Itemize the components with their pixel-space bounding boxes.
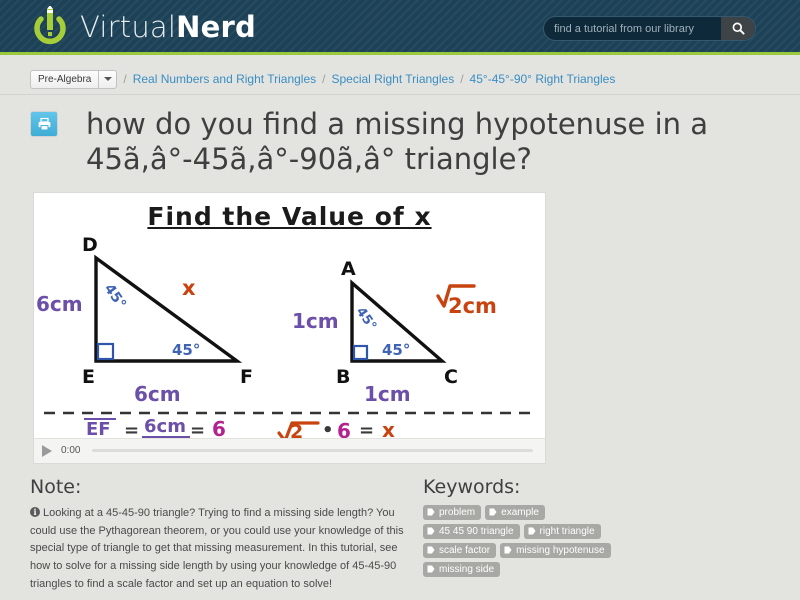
keyword-tag[interactable]: 45 45 90 triangle (423, 524, 520, 539)
note-heading: Note: (30, 476, 405, 498)
info-icon: i (30, 507, 40, 517)
note-text: Looking at a 45-45-90 triangle? Trying t… (30, 507, 404, 590)
right-hypotenuse-label: 2cm (448, 294, 497, 318)
chevron-down-icon[interactable] (98, 70, 117, 89)
keyword-tag[interactable]: right triangle (524, 524, 601, 539)
breadcrumb: Pre-Algebra / Real Numbers and Right Tri… (0, 64, 800, 95)
search-input[interactable] (544, 23, 721, 35)
video-player[interactable]: Find the Value of x D E F 6cm 6cm x 45° … (33, 192, 546, 464)
keyword-tag-label: right triangle (540, 526, 595, 537)
label-A: A (341, 258, 356, 280)
print-button[interactable] (30, 111, 58, 137)
equation-right-equals: = (359, 420, 374, 438)
equation-right-operator: • (322, 420, 334, 438)
right-angle-bottom: 45° (382, 341, 410, 359)
power-pencil-logo-icon (30, 6, 70, 48)
search-box (543, 16, 756, 41)
breadcrumb-item-0[interactable]: Real Numbers and Right Triangles (133, 72, 316, 86)
tag-icon (427, 565, 435, 573)
right-leg-vertical-label: 1cm (292, 309, 339, 333)
keyword-tag-label: example (501, 507, 539, 518)
equation-right-factor: 6 (337, 419, 351, 438)
tag-icon (427, 546, 435, 554)
play-icon[interactable] (42, 445, 52, 457)
breadcrumb-item-2[interactable]: 45°-45°-90° Right Triangles (470, 72, 616, 86)
left-hypotenuse-label: x (182, 276, 196, 300)
bottom-section: Note: iLooking at a 45-45-90 triangle? T… (0, 464, 800, 594)
right-angle-top: 45° (353, 304, 379, 333)
keyword-tag[interactable]: example (485, 505, 545, 520)
left-angle-bottom: 45° (172, 341, 200, 359)
left-angle-top: 45° (101, 281, 129, 312)
keyword-tag-label: missing hypotenuse (516, 545, 604, 556)
search-icon (732, 22, 745, 35)
keyword-tag-label: problem (439, 507, 475, 518)
label-E: E (82, 366, 95, 388)
keyword-tag-label: 45 45 90 triangle (439, 526, 514, 537)
slide-title: Find the Value of x (34, 202, 545, 231)
right-leg-horizontal-label: 1cm (364, 382, 411, 406)
equation-right-result: x (382, 418, 395, 438)
keyword-tag-list: problem example 45 45 90 triangle right … (423, 505, 638, 577)
breadcrumb-separator-3: / (460, 72, 463, 86)
tag-icon (504, 546, 512, 554)
label-D: D (82, 234, 98, 256)
tag-icon (427, 508, 435, 516)
video-time: 0:00 (61, 445, 80, 456)
breadcrumb-separator-2: / (322, 72, 325, 86)
slide-diagram: D E F 6cm 6cm x 45° 45° A B C 1cm 1cm 45… (34, 233, 546, 438)
site-logo[interactable]: VirtualNerd (30, 6, 256, 48)
printer-icon (37, 117, 52, 131)
logo-text-virtual: Virtual (80, 10, 176, 44)
left-leg-horizontal-label: 6cm (134, 382, 181, 406)
subject-dropdown-label[interactable]: Pre-Algebra (30, 70, 98, 89)
video-controls: 0:00 (34, 438, 545, 463)
search-button[interactable] (721, 16, 755, 41)
site-header: VirtualNerd (0, 0, 800, 55)
label-C: C (444, 366, 458, 388)
tag-icon (427, 527, 435, 535)
equation-left-numerator: EF (86, 419, 111, 438)
equation-left-fraction-numerator: 6cm (144, 416, 186, 437)
keyword-tag-label: missing side (439, 564, 494, 575)
subject-dropdown[interactable]: Pre-Algebra (30, 70, 117, 89)
breadcrumb-item-1[interactable]: Special Right Triangles (331, 72, 454, 86)
equation-left-result: 6 (212, 417, 226, 438)
left-leg-vertical-label: 6cm (36, 292, 83, 316)
keyword-tag[interactable]: problem (423, 505, 481, 520)
keyword-tag[interactable]: missing side (423, 562, 500, 577)
equation-right-radicand: 2 (290, 421, 303, 438)
keyword-tag-label: scale factor (439, 545, 490, 556)
keywords-heading: Keywords: (423, 476, 753, 498)
note-column: Note: iLooking at a 45-45-90 triangle? T… (30, 476, 405, 594)
label-F: F (240, 366, 253, 388)
video-progress-bar[interactable] (92, 449, 533, 452)
video-slide: Find the Value of x D E F 6cm 6cm x 45° … (34, 193, 545, 438)
equation-left-equals: = (124, 420, 139, 438)
logo-wordmark: VirtualNerd (80, 10, 256, 44)
keywords-column: Keywords: problem example 45 45 90 trian… (423, 476, 753, 594)
breadcrumb-separator-1: / (123, 72, 126, 86)
note-body: iLooking at a 45-45-90 triangle? Trying … (30, 505, 405, 594)
label-B: B (336, 366, 350, 388)
tag-icon (489, 508, 497, 516)
keyword-tag[interactable]: scale factor (423, 543, 496, 558)
title-row: how do you find a missing hypotenuse in … (0, 95, 800, 178)
logo-text-nerd: Nerd (176, 10, 256, 44)
equation-left-result-equals: = (190, 420, 205, 438)
tag-icon (528, 527, 536, 535)
page-title: how do you find a missing hypotenuse in … (86, 107, 716, 178)
keyword-tag[interactable]: missing hypotenuse (500, 543, 610, 558)
